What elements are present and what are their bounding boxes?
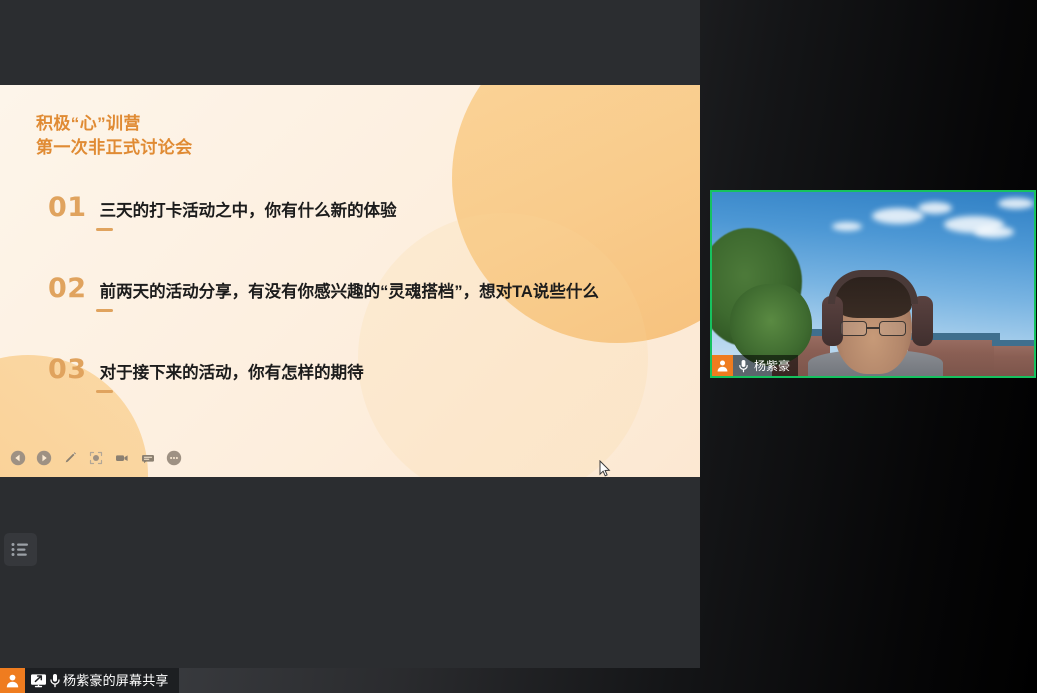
video-tree: [730, 284, 812, 366]
video-cloud: [918, 202, 952, 214]
question-item: 02 前两天的活动分享，有没有你感兴趣的“灵魂搭档”，想对TA说些什么: [48, 275, 668, 356]
question-underline: [96, 228, 113, 231]
previous-slide-icon[interactable]: [10, 450, 26, 466]
question-number: 02: [48, 275, 87, 302]
question-underline: [96, 309, 113, 312]
video-cloud: [872, 208, 924, 224]
pen-icon[interactable]: [62, 450, 78, 466]
video-roof: [992, 340, 1034, 346]
question-underline: [96, 390, 113, 393]
microphone-icon: [49, 673, 61, 688]
question-item: 03 对于接下来的活动，你有怎样的期待: [48, 356, 668, 437]
person-icon: [0, 668, 25, 693]
participant-name-badge: 杨紫豪: [712, 355, 798, 376]
question-number: 03: [48, 356, 87, 383]
next-slide-icon[interactable]: [36, 450, 52, 466]
laser-pointer-icon[interactable]: [88, 450, 104, 466]
video-cloud: [998, 198, 1034, 209]
question-item: 01 三天的打卡活动之中，你有什么新的体验: [48, 194, 668, 275]
participant-video-tile[interactable]: 杨紫豪: [710, 190, 1036, 378]
video-person-glasses: [840, 321, 906, 336]
participants-list-toggle[interactable]: [4, 533, 37, 566]
screen-share-icon: [30, 673, 47, 688]
video-feed: [712, 192, 1034, 376]
screen-share-status-text: 杨紫豪的屏幕共享: [63, 674, 179, 687]
video-building: [994, 344, 1034, 376]
slide-presenter-toolbar: [10, 450, 182, 466]
meeting-window: 积极“心”训营 第一次非正式讨论会 01 三天的打卡活动之中，你有什么新的体验 …: [0, 0, 1037, 693]
status-bar-icons: [25, 673, 63, 688]
question-text: 对于接下来的活动，你有怎样的期待: [100, 363, 364, 384]
screen-share-stage: 积极“心”训营 第一次非正式讨论会 01 三天的打卡活动之中，你有什么新的体验 …: [0, 0, 700, 668]
question-number: 01: [48, 194, 87, 221]
slide-title: 积极“心”训营 第一次非正式讨论会: [36, 112, 193, 160]
video-icon[interactable]: [114, 450, 130, 466]
shared-slide[interactable]: 积极“心”训营 第一次非正式讨论会 01 三天的打卡活动之中，你有什么新的体验 …: [0, 85, 700, 477]
person-icon: [712, 355, 733, 376]
video-cloud: [974, 226, 1014, 238]
question-list: 01 三天的打卡活动之中，你有什么新的体验 02 前两天的活动分享，有没有你感兴…: [48, 194, 668, 437]
screen-share-status-bar: 杨紫豪的屏幕共享: [0, 668, 179, 693]
more-options-icon[interactable]: [166, 450, 182, 466]
comment-icon[interactable]: [140, 450, 156, 466]
participant-name: 杨紫豪: [753, 360, 790, 372]
microphone-icon: [733, 355, 753, 376]
slide-title-line-2: 第一次非正式讨论会: [36, 136, 193, 160]
question-text: 前两天的活动分享，有没有你感兴趣的“灵魂搭档”，想对TA说些什么: [100, 282, 599, 303]
video-cloud: [832, 222, 862, 231]
question-text: 三天的打卡活动之中，你有什么新的体验: [100, 201, 397, 222]
list-menu-icon: [11, 542, 30, 557]
slide-title-line-1: 积极“心”训营: [36, 114, 141, 133]
